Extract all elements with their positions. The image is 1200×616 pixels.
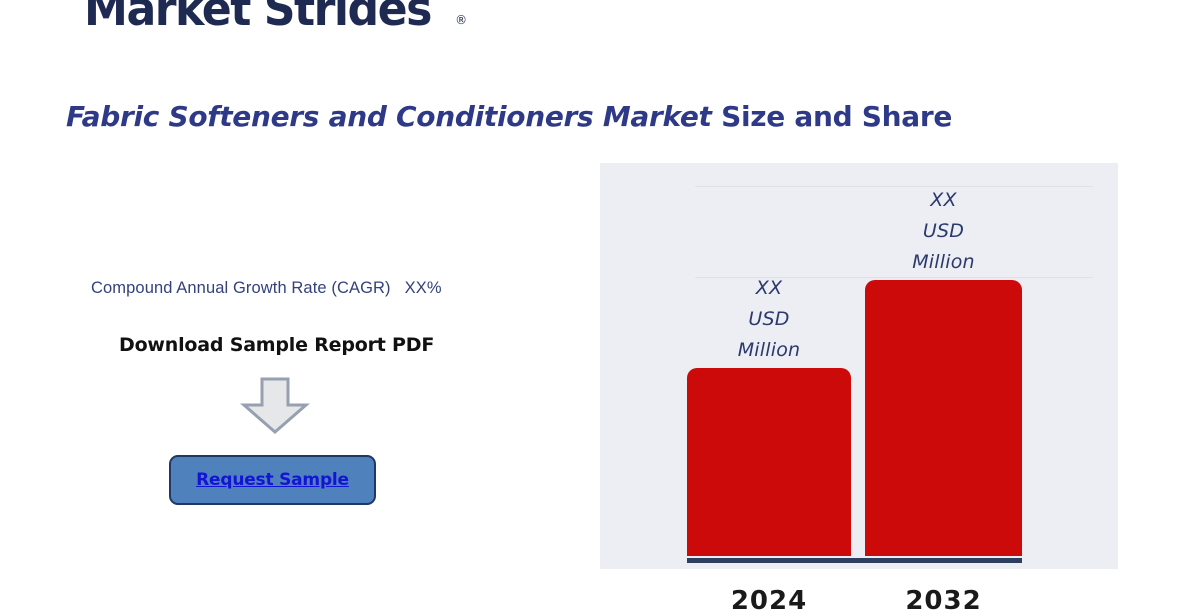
chart-x-axis-tick-label: 2024 (687, 586, 851, 616)
chart-x-axis-tick-label: 2032 (865, 586, 1022, 616)
cagr-label: Compound Annual Growth Rate (CAGR) XX% (91, 279, 442, 298)
request-sample-button-label: Request Sample (196, 470, 349, 490)
page-title: Fabric Softeners and Conditioners Market… (66, 100, 952, 133)
request-sample-button[interactable]: Request Sample (169, 455, 376, 505)
page-title-suffix: Size and Share (712, 100, 952, 133)
chart-bar (865, 280, 1022, 556)
registered-trademark-icon: ® (455, 13, 467, 27)
chart-bar (687, 368, 851, 556)
page-title-market-name: Fabric Softeners and Conditioners Market (66, 100, 712, 133)
download-sample-heading: Download Sample Report PDF (119, 334, 434, 356)
brand-logo-text: Market Strides (84, 0, 431, 33)
chart-bar-value-label: XX USD Million (687, 273, 851, 365)
brand-logo: Market Strides ® (84, 0, 467, 33)
market-size-bar-chart: XX USD Million XX USD Million (600, 163, 1118, 569)
down-arrow-icon (240, 377, 310, 440)
chart-x-axis (687, 558, 1022, 563)
chart-bar-value-label: XX USD Million (865, 185, 1022, 277)
